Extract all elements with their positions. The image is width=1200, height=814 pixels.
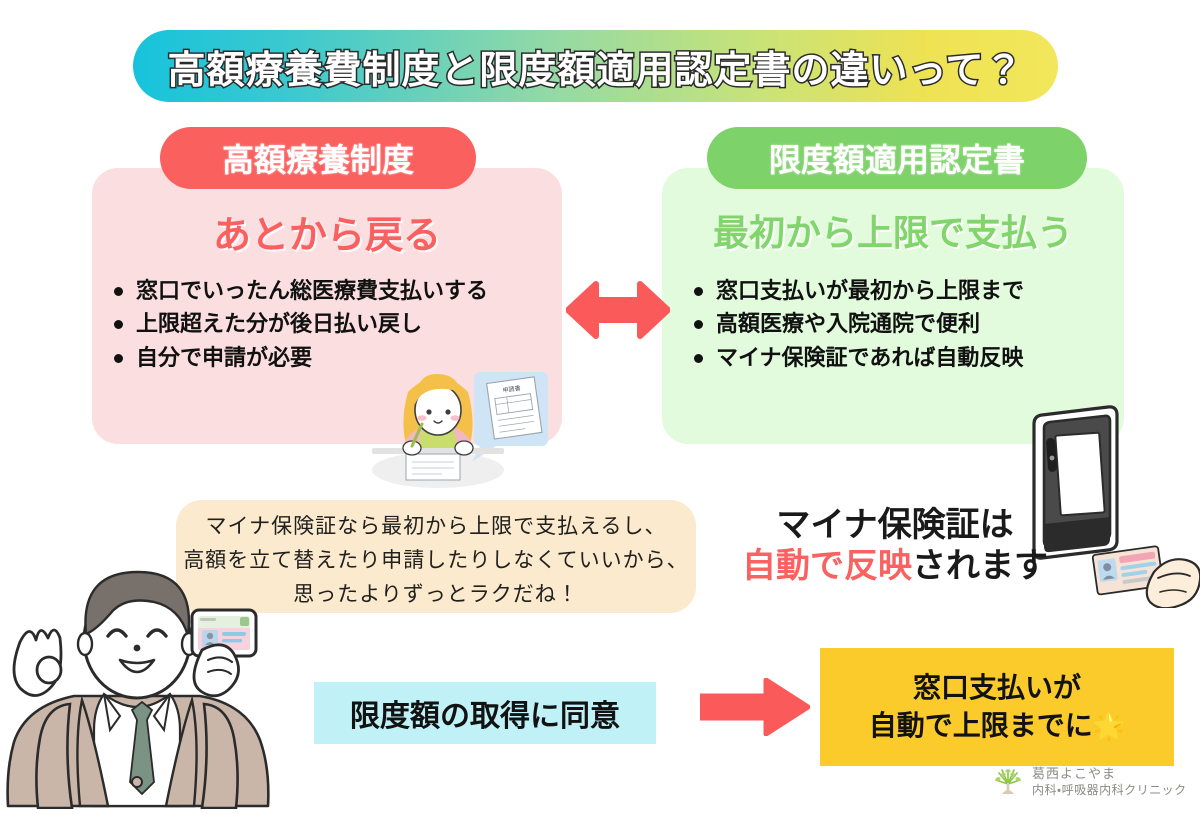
maina-message-highlight: 自動で反映 <box>742 547 912 585</box>
double-headed-arrow-icon <box>566 278 670 342</box>
list-item: 上限超えた分が後日払い戻し <box>136 307 552 340</box>
speech-line-1: マイナ保険証なら最初から上限で支払えるし、 <box>176 516 696 537</box>
card-pill-header-left: 高額療養制度 <box>160 127 476 189</box>
card-pill-label-right: 限度額適用認定書 <box>769 135 1025 181</box>
man-ok-gesture-illustration <box>0 548 282 809</box>
card-pill-header-right: 限度額適用認定書 <box>707 127 1087 189</box>
list-item: マイナ保険証であれば自動反映 <box>716 341 1114 374</box>
card-heading-left: あとから戻る <box>92 204 562 259</box>
consent-box[interactable]: 限度額の取得に同意 <box>314 682 656 744</box>
title-banner: 高額療養費制度と限度額適用認定書の違いって？ <box>133 30 1058 102</box>
list-item: 窓口支払いが最初から上限まで <box>716 274 1114 307</box>
result-line-1: 窓口支払いが <box>913 669 1081 707</box>
maina-message-rest: されます <box>912 547 1048 585</box>
maina-message-line-1: マイナ保険証は <box>735 505 1055 546</box>
clinic-logo: 葛西よこやま 内科・呼吸器内科クリニック <box>992 766 1187 798</box>
consent-label: 限度額の取得に同意 <box>350 691 620 735</box>
card-bullet-list-right: 窓口支払いが最初から上限まで 高額医療や入院通院で便利 マイナ保険証であれば自動… <box>690 274 1114 374</box>
clinic-subtitle: 内科・呼吸器内科クリニック <box>1032 783 1187 798</box>
clinic-name: 葛西よこやま <box>1032 766 1187 783</box>
list-item: 窓口でいったん総医療費支払いする <box>136 274 552 307</box>
maina-insurance-card-message: マイナ保険証は 自動で反映されます <box>735 505 1055 588</box>
woman-filling-form-illustration: 申請書 <box>372 358 552 488</box>
tree-icon <box>992 766 1024 798</box>
list-item: 高額医療や入院通院で便利 <box>716 307 1114 340</box>
result-box: 窓口支払いが 自動で上限までに🌟 <box>820 648 1174 766</box>
result-line-2: 自動で上限までに <box>869 710 1093 741</box>
card-pill-label-left: 高額療養制度 <box>222 135 414 181</box>
page-title: 高額療養費制度と限度額適用認定書の違いって？ <box>167 39 1023 94</box>
right-arrow-icon <box>700 678 810 736</box>
card-heading-right: 最初から上限で支払う <box>662 204 1124 256</box>
result-line-2-wrap: 自動で上限までに🌟 <box>869 707 1125 745</box>
star-icon: 🌟 <box>1093 711 1125 741</box>
maina-message-line-2: 自動で反映されます <box>735 546 1055 587</box>
